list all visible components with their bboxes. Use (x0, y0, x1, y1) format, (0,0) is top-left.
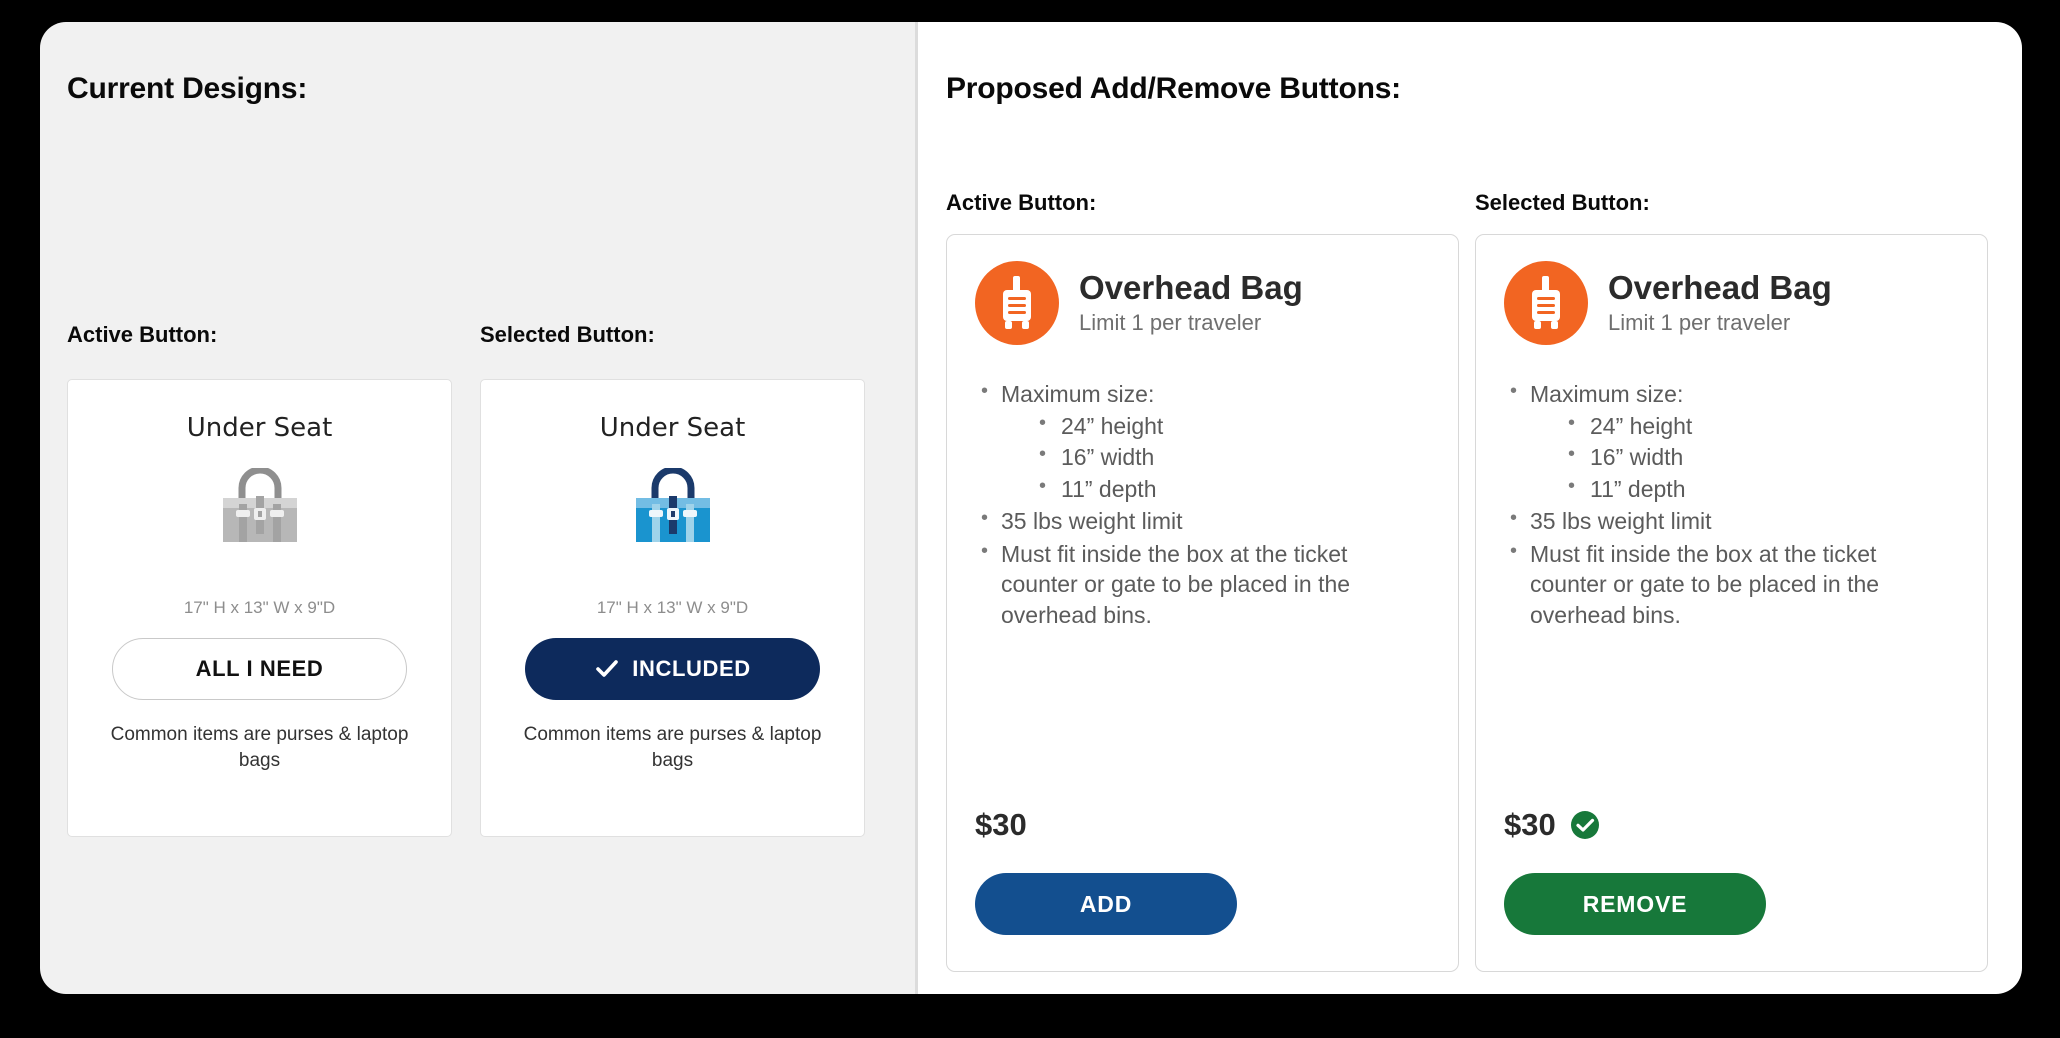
card-header: Overhead Bag Limit 1 per traveler (1504, 261, 1959, 345)
remove-button[interactable]: REMOVE (1504, 873, 1766, 935)
feature-sublist: 24” height 16” width 11” depth (1562, 411, 1959, 505)
current-active-button-label: Active Button: (67, 322, 217, 348)
proposed-heading: Proposed Add/Remove Buttons: (946, 72, 1401, 106)
list-item: Must fit inside the box at the ticket co… (975, 539, 1430, 631)
card-title: Under Seat (187, 413, 333, 443)
feature-list: Maximum size: 24” height 16” width 11” d… (975, 379, 1430, 631)
price-row: $30 (1504, 807, 1600, 843)
price-row: $30 (975, 807, 1027, 843)
card-title: Under Seat (600, 413, 746, 443)
proposed-buttons-panel: Proposed Add/Remove Buttons: Active Butt… (918, 22, 2022, 994)
current-designs-heading: Current Designs: (67, 72, 307, 106)
current-selected-card[interactable]: Under Seat 17" H x 13" W x 9"D (480, 379, 865, 837)
card-note: Common items are purses & laptop bags (503, 722, 843, 773)
list-item: 16” width (1033, 442, 1430, 473)
card-subtitle: Limit 1 per traveler (1079, 310, 1303, 336)
card-title: Overhead Bag (1079, 270, 1303, 306)
feature-list: Maximum size: 24” height 16” width 11” d… (1504, 379, 1959, 631)
list-item: Must fit inside the box at the ticket co… (1504, 539, 1959, 631)
current-active-card[interactable]: Under Seat 17" H x 13" W x 9"D ALL (67, 379, 452, 837)
card-header: Overhead Bag Limit 1 per traveler (975, 261, 1430, 345)
under-seat-bag-blue-icon (627, 468, 719, 554)
included-button[interactable]: INCLUDED (525, 638, 820, 700)
list-item: 11” depth (1033, 474, 1430, 505)
card-title: Overhead Bag (1608, 270, 1832, 306)
check-circle-icon (1570, 810, 1600, 840)
card-dimensions: 17" H x 13" W x 9"D (597, 598, 748, 618)
proposed-active-button-label: Active Button: (946, 190, 1096, 216)
rolling-suitcase-icon (975, 261, 1059, 345)
price-value: $30 (975, 807, 1027, 843)
list-item: 24” height (1033, 411, 1430, 442)
proposed-active-card[interactable]: Overhead Bag Limit 1 per traveler Maximu… (946, 234, 1459, 972)
check-icon (594, 656, 620, 682)
card-note: Common items are purses & laptop bags (90, 722, 430, 773)
list-item: 35 lbs weight limit (1504, 506, 1959, 537)
button-label: ALL I NEED (196, 656, 324, 682)
button-label: INCLUDED (632, 656, 750, 682)
current-selected-button-label: Selected Button: (480, 322, 655, 348)
rolling-suitcase-icon (1504, 261, 1588, 345)
current-designs-panel: Current Designs: Active Button: Selected… (40, 22, 915, 994)
proposed-selected-button-label: Selected Button: (1475, 190, 1650, 216)
list-item: 16” width (1562, 442, 1959, 473)
add-button[interactable]: ADD (975, 873, 1237, 935)
under-seat-bag-gray-icon (214, 468, 306, 554)
feature-sublist: 24” height 16” width 11” depth (1033, 411, 1430, 505)
list-item: 24” height (1562, 411, 1959, 442)
price-value: $30 (1504, 807, 1556, 843)
button-label: REMOVE (1583, 891, 1687, 918)
card-subtitle: Limit 1 per traveler (1608, 310, 1832, 336)
button-label: ADD (1080, 891, 1132, 918)
card-dimensions: 17" H x 13" W x 9"D (184, 598, 335, 618)
screenshot-frame: Current Designs: Active Button: Selected… (40, 22, 2022, 994)
list-item: 35 lbs weight limit (975, 506, 1430, 537)
list-item: Maximum size: 24” height 16” width 11” d… (975, 379, 1430, 504)
all-i-need-button[interactable]: ALL I NEED (112, 638, 407, 700)
list-item: 11” depth (1562, 474, 1959, 505)
list-item: Maximum size: 24” height 16” width 11” d… (1504, 379, 1959, 504)
proposed-selected-card[interactable]: Overhead Bag Limit 1 per traveler Maximu… (1475, 234, 1988, 972)
